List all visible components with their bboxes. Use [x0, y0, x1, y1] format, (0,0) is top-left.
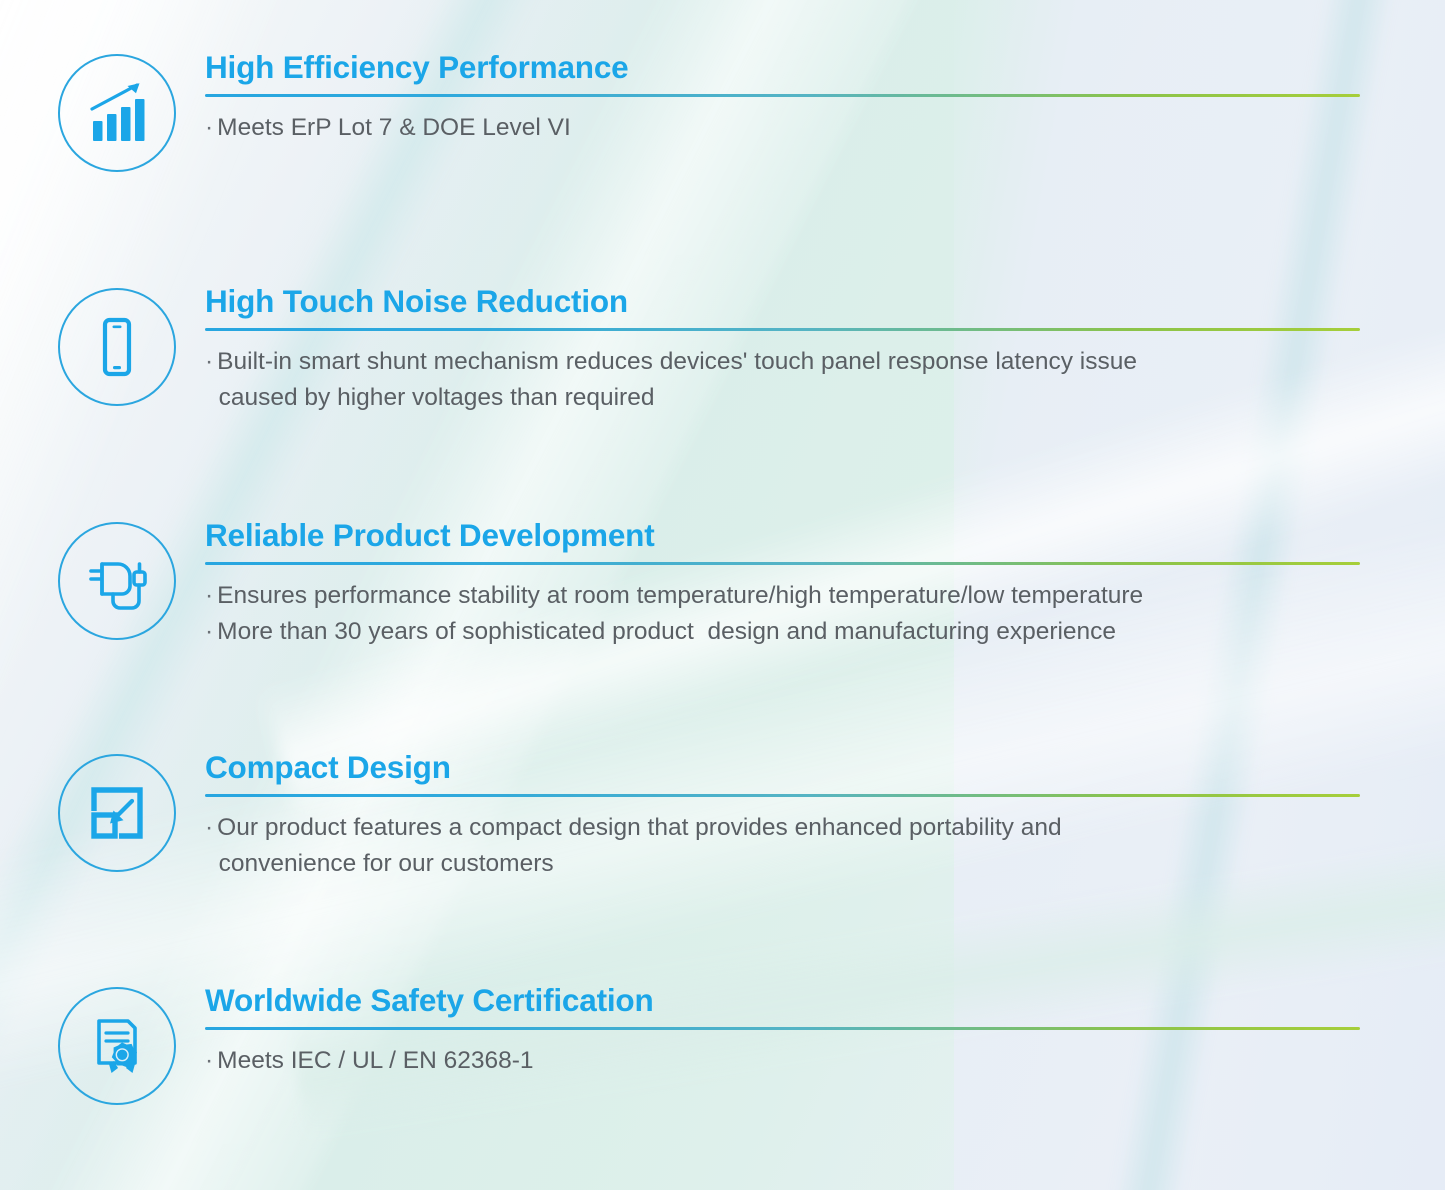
compact-resize-icon: [58, 754, 176, 872]
bullet-item: ·Built-in smart shunt mechanism reduces …: [205, 344, 1360, 416]
bullet-dot: ·: [205, 582, 217, 609]
bullet-dot: ·: [205, 618, 217, 645]
feature-list: High Efficiency Performance ·Meets ErP L…: [0, 0, 1445, 1190]
bullet-text: Meets IEC / UL / EN 62368-1: [217, 1047, 533, 1074]
bullet-text: Built-in smart shunt mechanism reduces d…: [205, 348, 1137, 411]
feature-body: Reliable Product Development ·Ensures pe…: [178, 518, 1360, 650]
certificate-seal-icon: [58, 987, 176, 1105]
bullet-dot: ·: [205, 1047, 217, 1074]
feature-item-worldwide-safety-certification: Worldwide Safety Certification ·Meets IE…: [56, 983, 1360, 1105]
bullet-text: Our product features a compact design th…: [205, 814, 1062, 877]
feature-bullets: ·Meets IEC / UL / EN 62368-1: [205, 1043, 1360, 1079]
feature-title: Worldwide Safety Certification: [205, 983, 1360, 1018]
feature-bullets: ·Built-in smart shunt mechanism reduces …: [205, 344, 1360, 416]
feature-title: Compact Design: [205, 750, 1360, 785]
feature-divider: [205, 562, 1360, 565]
bullet-dot: ·: [205, 348, 217, 375]
feature-item-reliable-product-development: Reliable Product Development ·Ensures pe…: [56, 518, 1360, 650]
feature-divider: [205, 328, 1360, 331]
feature-icon-wrap: [56, 50, 178, 172]
feature-divider: [205, 794, 1360, 797]
feature-item-high-efficiency-performance: High Efficiency Performance ·Meets ErP L…: [56, 50, 1360, 172]
bullet-item: ·Ensures performance stability at room t…: [205, 578, 1360, 614]
bullet-item: ·Meets IEC / UL / EN 62368-1: [205, 1043, 1360, 1079]
feature-bullets: ·Our product features a compact design t…: [205, 810, 1360, 882]
feature-icon-wrap: [56, 750, 178, 872]
feature-item-high-touch-noise-reduction: High Touch Noise Reduction ·Built-in sma…: [56, 284, 1360, 416]
feature-body: High Efficiency Performance ·Meets ErP L…: [178, 50, 1360, 146]
bullet-text: Ensures performance stability at room te…: [217, 582, 1143, 609]
feature-icon-wrap: [56, 284, 178, 406]
feature-body: Worldwide Safety Certification ·Meets IE…: [178, 983, 1360, 1079]
bar-chart-growth-icon: [58, 54, 176, 172]
feature-body: Compact Design ·Our product features a c…: [178, 750, 1360, 882]
feature-title: High Efficiency Performance: [205, 50, 1360, 85]
feature-bullets: ·Ensures performance stability at room t…: [205, 578, 1360, 650]
bullet-text: Meets ErP Lot 7 & DOE Level VI: [217, 114, 571, 141]
feature-divider: [205, 94, 1360, 97]
feature-divider: [205, 1027, 1360, 1030]
feature-body: High Touch Noise Reduction ·Built-in sma…: [178, 284, 1360, 416]
bullet-item: ·Our product features a compact design t…: [205, 810, 1360, 882]
feature-title: Reliable Product Development: [205, 518, 1360, 553]
bullet-item: ·Meets ErP Lot 7 & DOE Level VI: [205, 110, 1360, 146]
feature-icon-wrap: [56, 983, 178, 1105]
bullet-text: More than 30 years of sophisticated prod…: [217, 618, 1116, 645]
feature-title: High Touch Noise Reduction: [205, 284, 1360, 319]
smartphone-icon: [58, 288, 176, 406]
bullet-dot: ·: [205, 114, 217, 141]
power-adapter-icon: [58, 522, 176, 640]
feature-item-compact-design: Compact Design ·Our product features a c…: [56, 750, 1360, 882]
bullet-dot: ·: [205, 814, 217, 841]
feature-bullets: ·Meets ErP Lot 7 & DOE Level VI: [205, 110, 1360, 146]
feature-icon-wrap: [56, 518, 178, 640]
bullet-item: ·More than 30 years of sophisticated pro…: [205, 614, 1360, 650]
